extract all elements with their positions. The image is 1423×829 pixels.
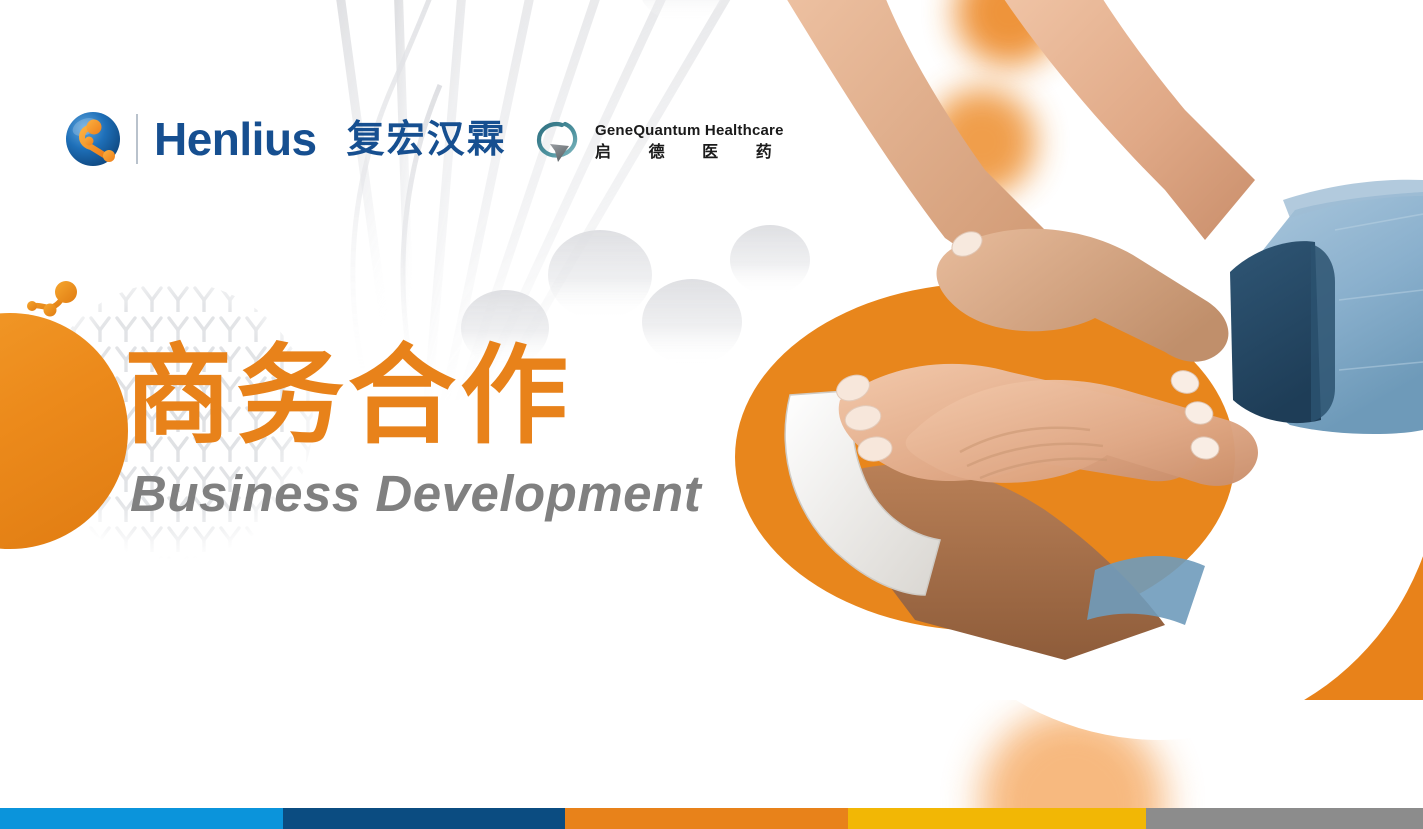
logo-divider — [136, 114, 138, 164]
footer-bar-segment-gold — [848, 808, 1145, 829]
genequantum-chinese-name: 启 德 医 药 — [595, 142, 788, 162]
footer-bar-segment-navy-blue — [283, 808, 565, 829]
genequantum-swoosh-arrow-icon — [531, 116, 583, 168]
footer-color-bar — [0, 808, 1423, 829]
title-block: 商务合作 Business Development — [124, 340, 701, 519]
denim-cuff-dark — [1230, 241, 1321, 423]
footer-bar-segment-gray — [1146, 808, 1423, 829]
orange-molecule-icon — [26, 281, 84, 325]
footer-bar-segment-orange — [565, 808, 848, 829]
footer-bar-segment-cyan-blue — [0, 808, 283, 829]
henlius-chinese-name: 复宏汉霖 — [347, 120, 507, 158]
hand-upper-middle — [937, 229, 1229, 362]
genequantum-wordmark: GeneQuantum Healthcare — [595, 122, 788, 139]
logo-bar: Henlius 复宏汉霖 — [0, 0, 1423, 200]
page-title-chinese: 商务合作 — [124, 340, 701, 454]
page-title-english: Business Development — [130, 468, 701, 519]
denim-cuff-lower — [1087, 556, 1205, 625]
title-slide: Henlius 复宏汉霖 — [0, 0, 1423, 829]
henlius-wordmark: Henlius — [154, 116, 317, 162]
henlius-logo: Henlius 复宏汉霖 — [64, 108, 507, 170]
genequantum-logo: GeneQuantum Healthcare 启 德 医 药 — [531, 114, 788, 170]
genequantum-text-block: GeneQuantum Healthcare 启 德 医 药 — [595, 122, 788, 161]
henlius-sphere-molecule-icon — [64, 110, 122, 168]
